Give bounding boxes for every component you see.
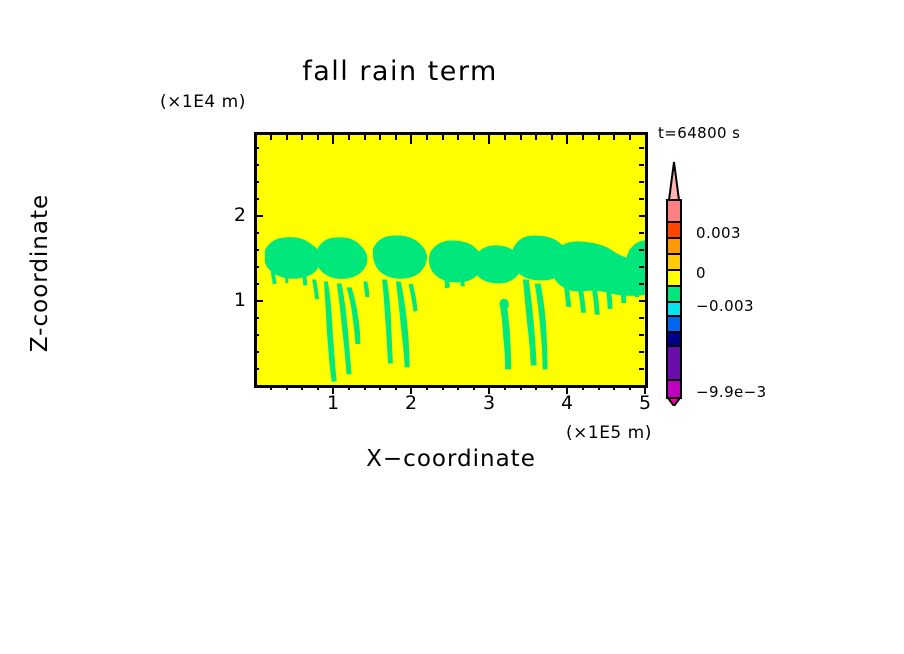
y-axis-title: Z-coordinate	[27, 143, 53, 403]
colorbar-label-min: −9.9e−3	[696, 383, 767, 401]
colorbar-label-zero: 0	[696, 264, 706, 282]
y-tick-minor-right	[639, 164, 644, 166]
x-tick-major-top	[332, 135, 334, 144]
x-tick-minor	[286, 385, 288, 390]
y-axis-unit-label: (×1E4 m)	[160, 92, 246, 112]
x-tick-minor-top	[364, 135, 366, 140]
x-tick-minor	[582, 385, 584, 390]
x-axis-title: X−coordinate	[254, 446, 648, 472]
colorbar-band	[667, 316, 681, 332]
x-tick-minor-top	[598, 135, 600, 140]
y-tick-major	[254, 215, 263, 217]
colorbar-band	[667, 302, 681, 316]
y-tick-minor-right	[639, 368, 644, 370]
x-tick-minor-top	[301, 135, 303, 140]
x-tick-label: 3	[469, 392, 509, 414]
x-tick-minor-top	[379, 135, 381, 140]
y-tick-label: 2	[216, 204, 246, 226]
x-tick-minor	[629, 385, 631, 390]
colorbar-band	[667, 222, 681, 238]
colorbar-under-arrow	[668, 398, 680, 406]
x-tick-minor	[457, 385, 459, 390]
x-tick-minor	[317, 385, 319, 390]
colorbar-label-high: 0.003	[696, 224, 741, 242]
x-tick-minor-top	[317, 135, 319, 140]
y-tick-minor	[254, 232, 259, 234]
x-tick-major-top	[488, 135, 490, 144]
colorbar-band	[667, 254, 681, 270]
y-tick-minor-right	[639, 232, 644, 234]
y-tick-minor	[254, 317, 259, 319]
x-tick-minor-top	[629, 135, 631, 140]
x-tick-minor	[395, 385, 397, 390]
x-tick-label: 4	[547, 392, 587, 414]
x-tick-minor-top	[504, 135, 506, 140]
x-tick-minor-top	[473, 135, 475, 140]
page-title: fall rain term	[0, 56, 852, 87]
x-tick-major-top	[566, 135, 568, 144]
x-tick-minor	[301, 385, 303, 390]
y-tick-minor-right	[639, 283, 644, 285]
x-tick-minor-top	[270, 135, 272, 140]
colorbar	[659, 160, 689, 406]
colorbar-swatches	[659, 160, 689, 406]
y-tick-minor-right	[639, 147, 644, 149]
colorbar-band	[667, 332, 681, 346]
x-tick-label: 1	[313, 392, 353, 414]
x-tick-minor	[598, 385, 600, 390]
colorbar-label-low: −0.003	[696, 297, 754, 315]
x-tick-minor	[535, 385, 537, 390]
x-tick-minor	[520, 385, 522, 390]
x-tick-label: 2	[391, 392, 431, 414]
x-axis-unit-label: (×1E5 m)	[566, 423, 652, 443]
y-tick-minor	[254, 147, 259, 149]
x-tick-minor	[348, 385, 350, 390]
colorbar-over-arrow	[669, 162, 679, 200]
x-tick-minor	[551, 385, 553, 390]
contour-field	[257, 135, 645, 385]
colorbar-band	[667, 346, 681, 380]
x-tick-minor-top	[520, 135, 522, 140]
x-tick-major-top	[410, 135, 412, 144]
y-tick-major-right	[639, 215, 648, 217]
y-tick-minor	[254, 198, 259, 200]
y-tick-minor	[254, 266, 259, 268]
colorbar-band	[667, 270, 681, 286]
y-tick-minor	[254, 283, 259, 285]
y-tick-minor-right	[639, 198, 644, 200]
y-tick-minor-right	[639, 334, 644, 336]
x-tick-minor	[426, 385, 428, 390]
colorbar-band	[667, 286, 681, 302]
x-tick-minor	[613, 385, 615, 390]
y-tick-minor	[254, 334, 259, 336]
y-tick-major	[254, 300, 263, 302]
x-tick-minor-top	[348, 135, 350, 140]
colorbar-band	[667, 380, 681, 398]
timestamp-annotation: t=64800 s	[658, 124, 740, 142]
x-tick-minor-top	[442, 135, 444, 140]
y-tick-label: 1	[216, 289, 246, 311]
y-tick-minor-right	[639, 266, 644, 268]
y-tick-minor-right	[639, 317, 644, 319]
x-tick-minor-top	[613, 135, 615, 140]
x-tick-minor	[473, 385, 475, 390]
y-tick-minor-right	[639, 249, 644, 251]
y-tick-major-right	[639, 300, 648, 302]
x-tick-minor	[442, 385, 444, 390]
x-tick-minor	[270, 385, 272, 390]
x-tick-minor-top	[535, 135, 537, 140]
plot-area	[254, 132, 648, 388]
y-tick-minor	[254, 181, 259, 183]
x-tick-minor-top	[395, 135, 397, 140]
figure-canvas: fall rain term (×1E4 m) Z-coordinate t=6…	[0, 0, 904, 654]
y-tick-minor-right	[639, 351, 644, 353]
y-tick-minor	[254, 164, 259, 166]
colorbar-band	[667, 238, 681, 254]
x-tick-minor-top	[426, 135, 428, 140]
colorbar-band	[667, 200, 681, 222]
y-tick-minor	[254, 351, 259, 353]
x-tick-minor-top	[286, 135, 288, 140]
x-tick-minor	[504, 385, 506, 390]
x-tick-minor-top	[582, 135, 584, 140]
x-tick-minor-top	[457, 135, 459, 140]
x-tick-minor	[379, 385, 381, 390]
y-tick-minor	[254, 368, 259, 370]
y-tick-minor-right	[639, 181, 644, 183]
y-tick-minor	[254, 249, 259, 251]
x-tick-minor	[364, 385, 366, 390]
x-tick-minor-top	[551, 135, 553, 140]
